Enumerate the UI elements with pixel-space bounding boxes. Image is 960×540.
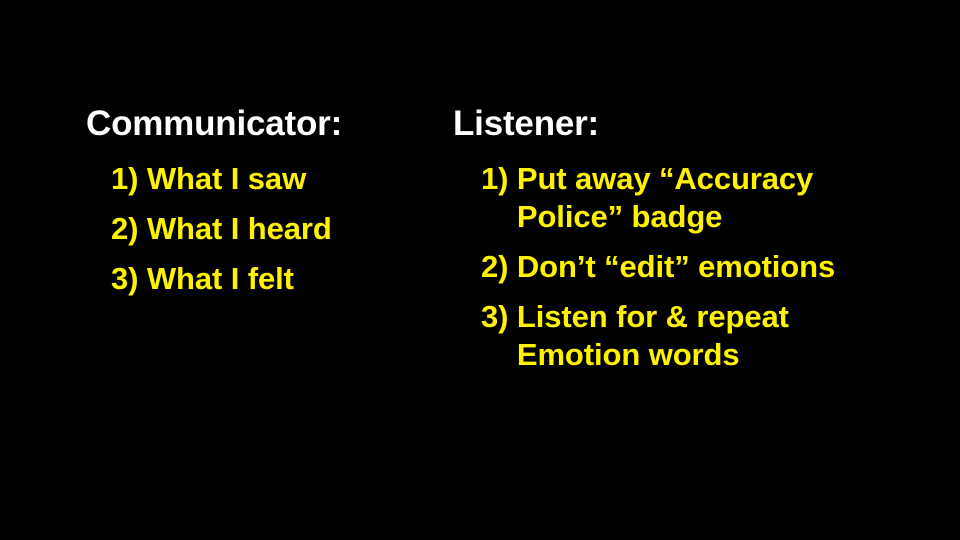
list-item: 1) Put away “Accuracy Police” badge (481, 160, 893, 236)
list-item-text: What I saw (147, 160, 426, 198)
list-item-text: What I heard (147, 210, 426, 248)
list-item-marker: 2) (111, 210, 147, 248)
list-item: 2) What I heard (111, 210, 426, 248)
list-item-text: What I felt (147, 260, 426, 298)
list-item-text: Don’t “edit” emotions (517, 248, 883, 286)
list-item: 2) Don’t “edit” emotions (481, 248, 893, 286)
slide-canvas: Communicator: 1) What I saw 2) What I he… (0, 0, 960, 540)
listener-list: 1) Put away “Accuracy Police” badge 2) D… (453, 160, 893, 374)
list-item-marker: 3) (481, 298, 517, 336)
communicator-heading: Communicator: (86, 104, 426, 144)
list-item-marker: 2) (481, 248, 517, 286)
list-item-marker: 1) (111, 160, 147, 198)
communicator-column: Communicator: 1) What I saw 2) What I he… (86, 104, 426, 298)
list-item-marker: 1) (481, 160, 517, 198)
list-item: 1) What I saw (111, 160, 426, 198)
list-item-text: Put away “Accuracy Police” badge (517, 160, 883, 236)
list-item: 3) What I felt (111, 260, 426, 298)
communicator-list: 1) What I saw 2) What I heard 3) What I … (86, 160, 426, 298)
list-item-marker: 3) (111, 260, 147, 298)
list-item-text: Listen for & repeat Emotion words (517, 298, 883, 374)
list-item: 3) Listen for & repeat Emotion words (481, 298, 893, 374)
listener-heading: Listener: (453, 104, 893, 144)
listener-column: Listener: 1) Put away “Accuracy Police” … (453, 104, 893, 374)
